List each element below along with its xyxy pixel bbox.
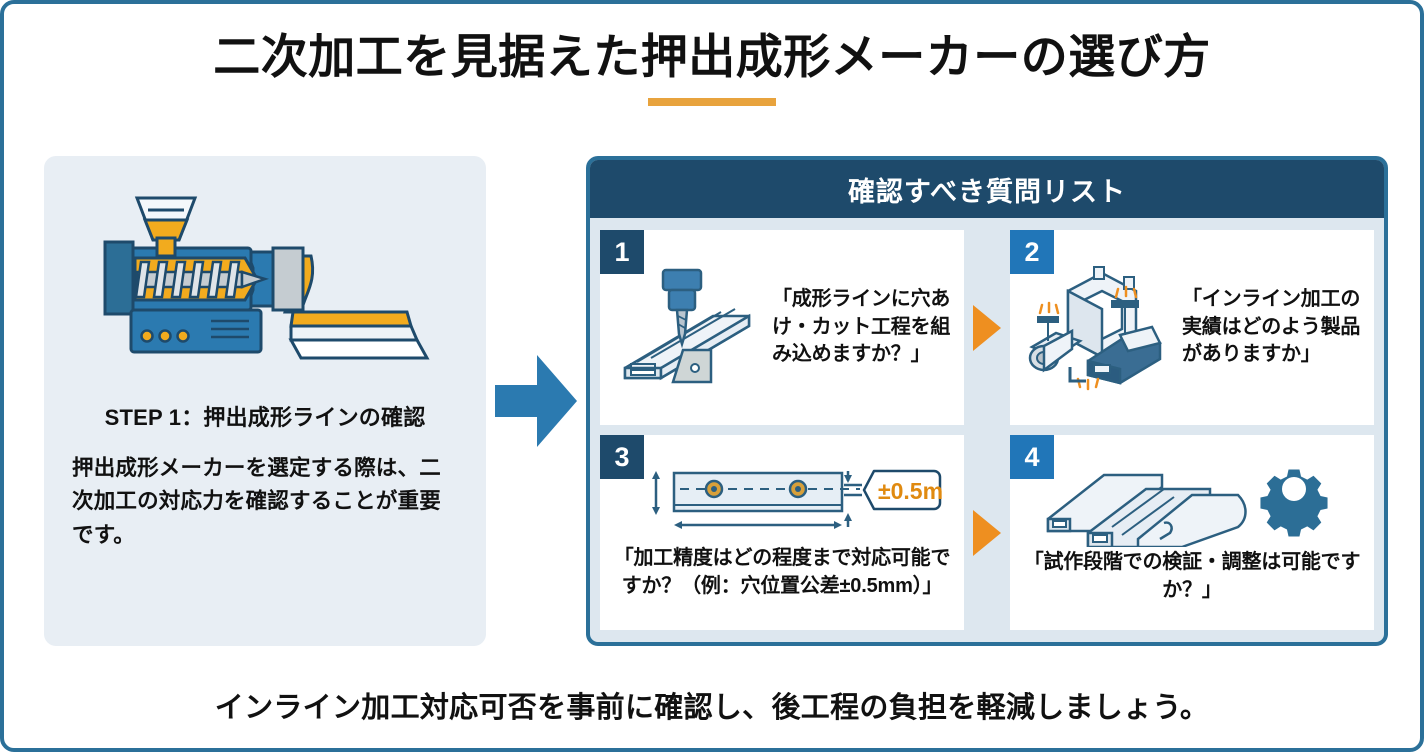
question-number-badge-2: 2 — [1010, 230, 1054, 274]
step-title: STEP 1：押出成形ラインの確認 — [72, 400, 458, 432]
question-number-badge-4: 4 — [1010, 435, 1054, 479]
orange-triangle-arrow-icon-top — [964, 230, 1010, 425]
question-list-panel: 確認すべき質問リスト 1 — [586, 156, 1388, 646]
question-card-3[interactable]: 3 — [600, 435, 964, 630]
flow-arrow-zone — [486, 156, 586, 646]
profiles-with-gear-icon — [1042, 461, 1342, 547]
question-text-3: 「加工精度はどの程度まで対応可能ですか？（例：穴位置公差±0.5mm）」 — [612, 545, 952, 600]
question-card-grid: 1 — [590, 218, 1384, 642]
question-text-2: 「インライン加工の実績はどのよう製品がありますか」 — [1178, 286, 1362, 369]
main-columns: STEP 1：押出成形ラインの確認 押出成形メーカーを選定する際は、二次加工の対… — [44, 156, 1388, 646]
step-panel: STEP 1：押出成形ラインの確認 押出成形メーカーを選定する際は、二次加工の対… — [44, 156, 486, 646]
extruded-profiles-inline-processing-icon — [1022, 263, 1172, 393]
extruder-machine-icon — [72, 182, 458, 382]
question-text-1: 「成形ラインに穴あけ・カット工程を組み込めますか？」 — [768, 286, 952, 369]
page-title: 二次加工を見据えた押出成形メーカーの選び方 — [4, 30, 1420, 84]
title-underline-accent — [648, 98, 776, 106]
question-card-2[interactable]: 2 — [1010, 230, 1374, 425]
title-block: 二次加工を見据えた押出成形メーカーの選び方 — [4, 4, 1420, 106]
right-arrow-icon — [493, 353, 579, 449]
orange-triangle-arrow-icon-bottom — [964, 435, 1010, 630]
dimension-tolerance-drawing-icon: ±0.5mm — [622, 465, 942, 543]
infographic-poster: 二次加工を見据えた押出成形メーカーの選び方 — [0, 0, 1424, 752]
question-card-4[interactable]: 4 — [1010, 435, 1374, 630]
question-number-badge-3: 3 — [600, 435, 644, 479]
question-card-1[interactable]: 1 — [600, 230, 964, 425]
step-description: 押出成形メーカーを選定する際は、二次加工の対応力を確認することが重要です。 — [72, 452, 458, 552]
question-list-header: 確認すべき質問リスト — [590, 160, 1384, 218]
tolerance-callout-label: ±0.5mm — [878, 478, 942, 504]
footer-message: インライン加工対応可否を事前に確認し、後工程の負担を軽減しましょう。 — [4, 684, 1420, 726]
question-number-badge-1: 1 — [600, 230, 644, 274]
question-text-4: 「試作段階での検証・調整は可能ですか？」 — [1022, 549, 1362, 604]
drill-on-profile-icon — [612, 264, 762, 392]
